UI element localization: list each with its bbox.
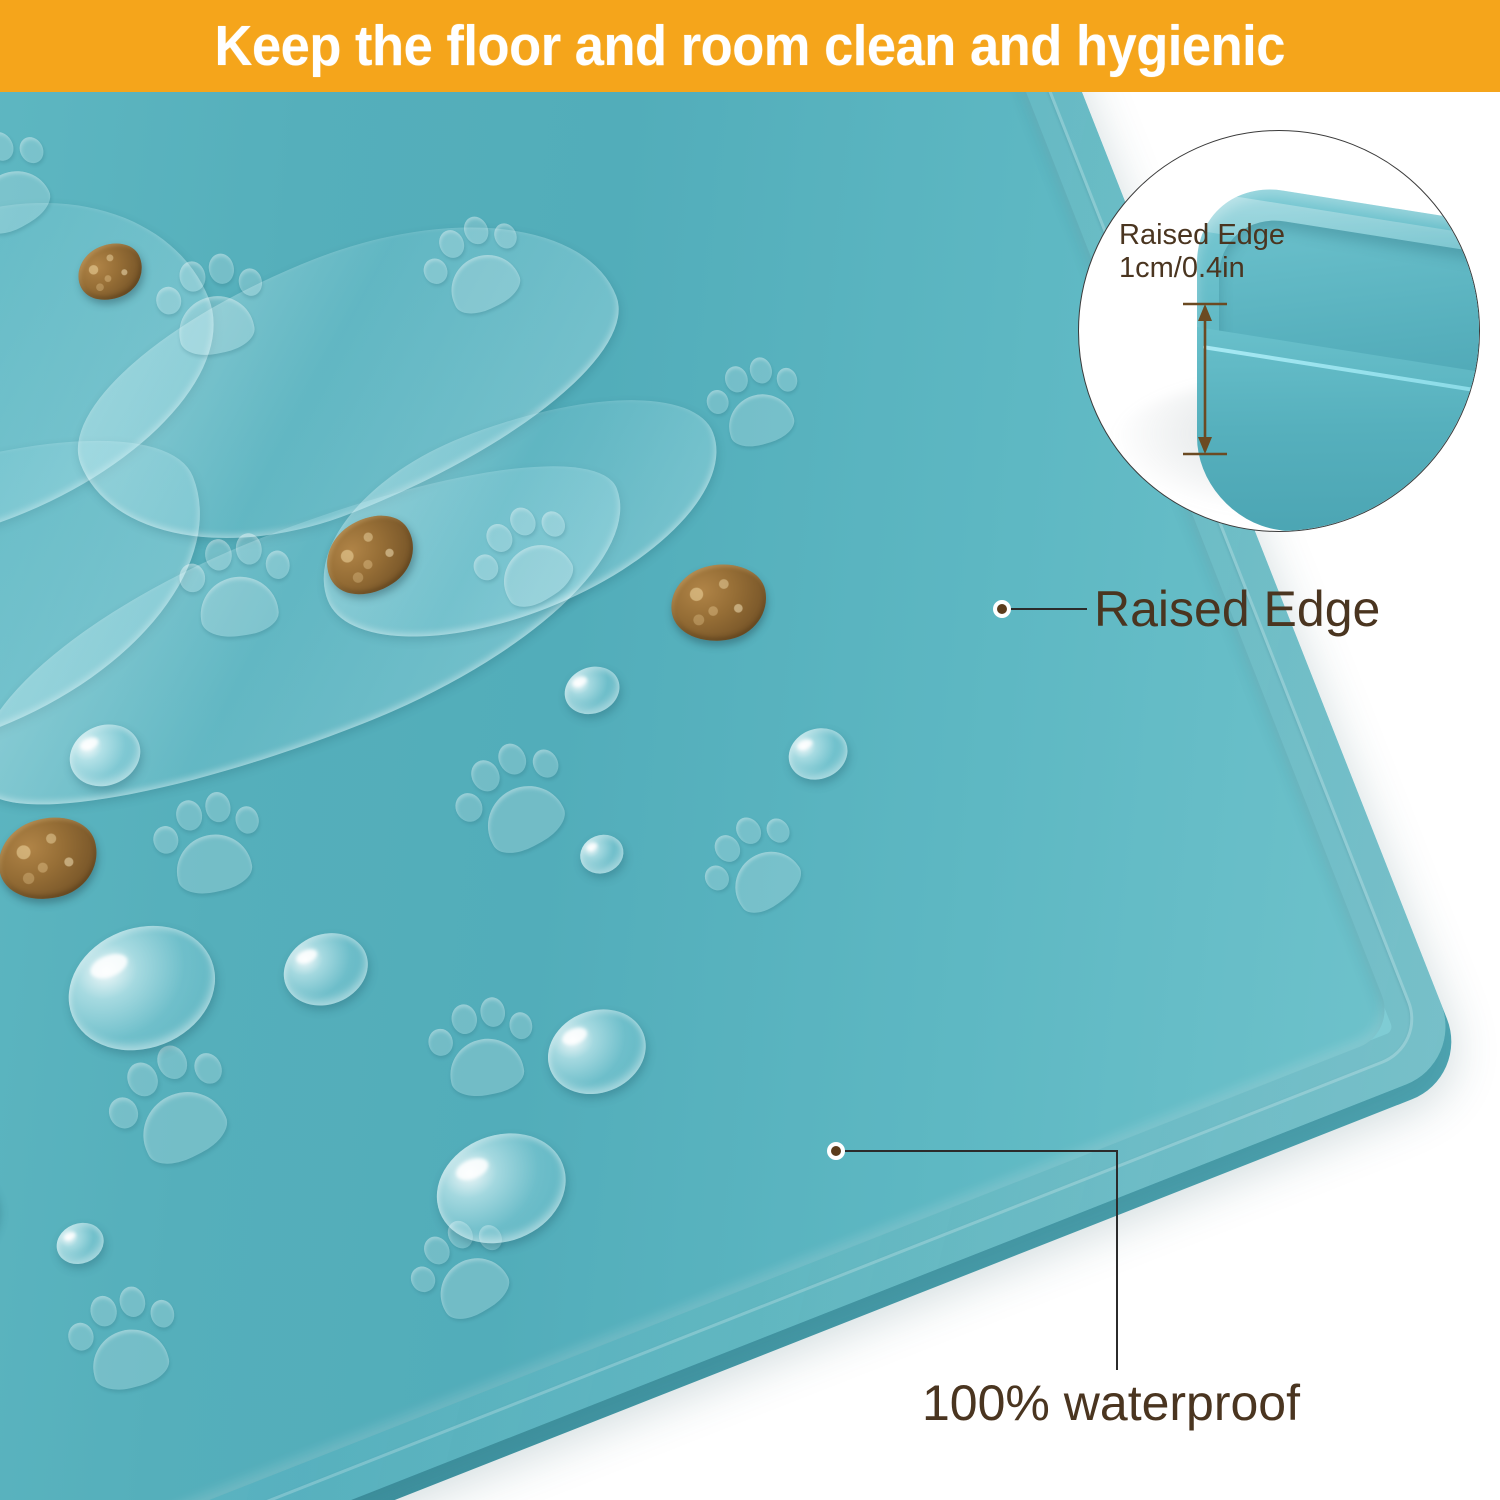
kibble-piece — [0, 805, 108, 911]
raised-edge-detail-inset: Raised Edge 1cm/0.4in — [1078, 130, 1480, 532]
water-droplet — [558, 659, 627, 722]
callout-dot-waterproof — [827, 1142, 845, 1160]
paw-print-emboss — [147, 244, 275, 365]
callout-dot-raised-edge — [993, 600, 1011, 618]
water-droplet — [574, 828, 629, 879]
paw-print-emboss — [144, 782, 274, 905]
callout-leader-waterproof-vertical — [1116, 1150, 1118, 1370]
inset-label: Raised Edge 1cm/0.4in — [1119, 219, 1285, 285]
callout-label-raised-edge: Raised Edge — [1094, 584, 1380, 634]
paw-print-emboss — [686, 797, 824, 933]
callout-leader-raised-edge — [1011, 608, 1087, 610]
water-droplet — [0, 1149, 13, 1282]
paw-print-emboss — [173, 526, 300, 644]
callout-leader-waterproof-horizontal — [845, 1150, 1118, 1152]
water-droplet — [535, 995, 658, 1108]
paw-print-emboss — [90, 1025, 254, 1185]
water-droplet — [781, 720, 855, 789]
product-feature-image: Keep the floor and room clean and hygien… — [0, 0, 1500, 1500]
paw-print-emboss — [437, 724, 590, 873]
banner-headline: Keep the floor and room clean and hygien… — [215, 18, 1285, 75]
edge-height-dimension-arrow — [1175, 299, 1233, 459]
water-droplet — [51, 1216, 110, 1271]
water-droplet — [273, 921, 379, 1018]
paw-print-emboss — [57, 1275, 191, 1402]
header-banner: Keep the floor and room clean and hygien… — [0, 0, 1500, 92]
kibble-piece — [664, 556, 773, 650]
paw-print-emboss — [420, 989, 544, 1106]
callout-label-waterproof: 100% waterproof — [922, 1378, 1300, 1428]
